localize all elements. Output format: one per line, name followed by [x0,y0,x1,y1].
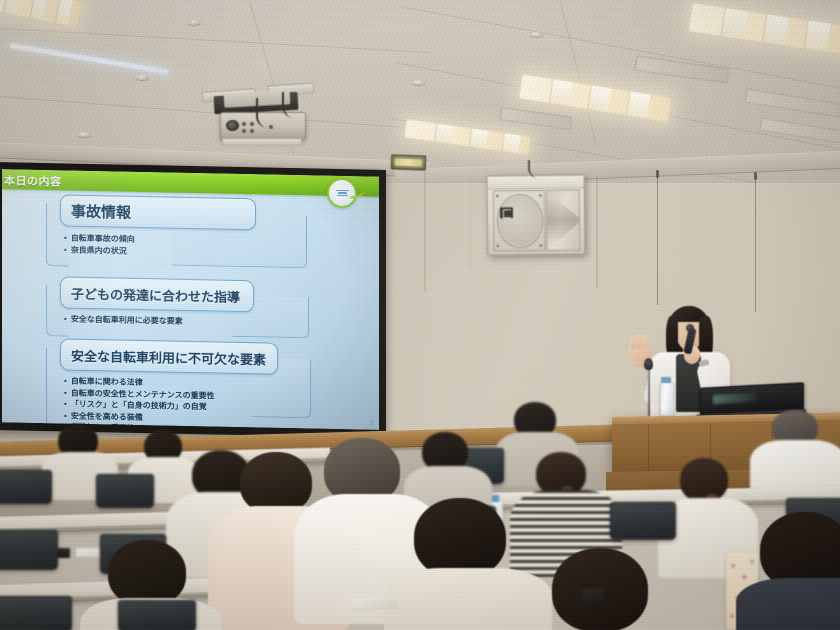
section-heading-box: 子どもの発達に合わせた指導 [60,276,254,312]
microphone-head [686,324,694,332]
bullet-item: 奈良県内の状況 [64,244,135,257]
section-heading: 子どもの発達に合わせた指導 [71,283,240,305]
bullet-item: 安全な自転車利用に必要な要素 [64,313,183,327]
chair [610,502,676,540]
speaker-horn [545,190,580,252]
wall-seam [596,176,598,288]
ceiling-vent-tile [499,107,572,130]
section-bullets: 自転車に関わる法律 自転車の安全性とメンテナンスの重要性 「リスク」と「自身の技… [64,375,215,429]
lecture-hall-photo: 本日の内容 事故情報 自転車事故の傾向 奈良県内の状況 [0,0,840,630]
ceiling-light-panel [689,3,840,57]
chair [0,530,58,570]
ceiling-strip-light [10,43,169,74]
exit-sign [391,154,427,170]
ceiling-vent-tile [634,56,729,84]
section-bullets: 自転車事故の傾向 奈良県内の状況 [64,232,135,257]
ceiling-vent-tile [745,88,840,117]
ceiling-light-panel [0,0,82,27]
wall-seam [470,178,471,268]
wall-speaker [487,174,586,255]
slide-page-number: 3 [370,421,373,427]
water-bottle [660,382,674,416]
podium-microphone-head [644,358,653,370]
section-heading: 安全な自転車利用に不可欠な要素 [71,345,266,368]
projection-screen: 本日の内容 事故情報 自転車事故の傾向 奈良県内の状況 [0,162,386,438]
smoke-detector-icon [530,32,543,37]
smoke-detector-icon [136,75,149,80]
head [414,498,506,578]
slide-section: 安全な自転車利用に不可欠な要素 自転車に関わる法律 自転車の安全性とメンテナンス… [2,337,379,377]
slide-section: 子どもの発達に合わせた指導 安全な自転車利用に必要な要素 [2,275,379,315]
torso [384,568,552,630]
chair [0,596,72,630]
head [240,452,312,514]
papers [352,597,398,611]
smoke-detector-icon [412,80,425,85]
section-heading: 事故情報 [71,200,131,222]
ceiling-light-panel [519,74,671,121]
badge-swoosh-icon [348,186,366,199]
chair [0,470,52,504]
chair [96,474,154,508]
head [680,458,728,502]
podium-microphone-stand [648,368,650,416]
wall-seam [424,172,426,292]
section-bullets: 安全な自転車利用に必要な要素 [64,313,183,327]
bottle-cap [661,377,671,383]
slide-title: 本日の内容 [4,172,62,189]
smoke-detector-icon [188,20,201,25]
hanging-cord [657,170,658,305]
presentation-slide: 本日の内容 事故情報 自転車事故の傾向 奈良県内の状況 [2,169,379,430]
section-heading-box: 安全な自転車利用に不可欠な要素 [60,338,278,374]
chair [118,600,196,630]
head [108,540,186,606]
ceiling-vent-tile [759,118,840,144]
section-heading-box: 事故情報 [60,194,256,230]
slide-section: 事故情報 自転車事故の傾向 奈良県内の状況 [2,193,379,233]
torso [736,578,840,630]
speaker-brand-logo [499,207,512,218]
smoke-detector-icon [78,132,91,137]
ceiling-projector [196,86,322,148]
ceiling-light-panel [404,119,530,154]
wristwatch [582,588,604,608]
